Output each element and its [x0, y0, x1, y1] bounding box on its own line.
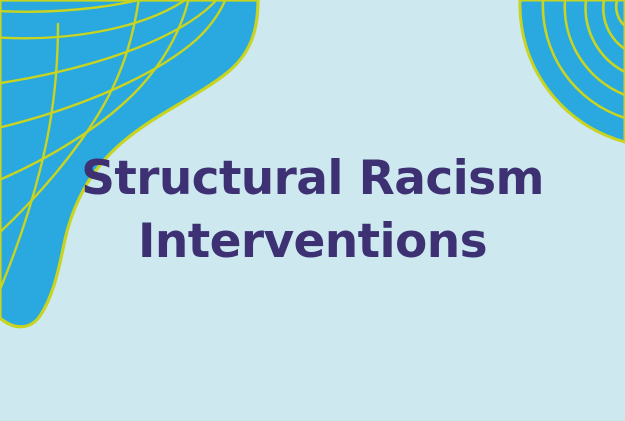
title-card: Structural Racism Interventions	[0, 0, 625, 421]
title-line-1: Structural Racism	[81, 149, 544, 209]
title-line-2: Interventions	[138, 212, 487, 272]
page-title: Structural Racism Interventions	[0, 0, 625, 421]
